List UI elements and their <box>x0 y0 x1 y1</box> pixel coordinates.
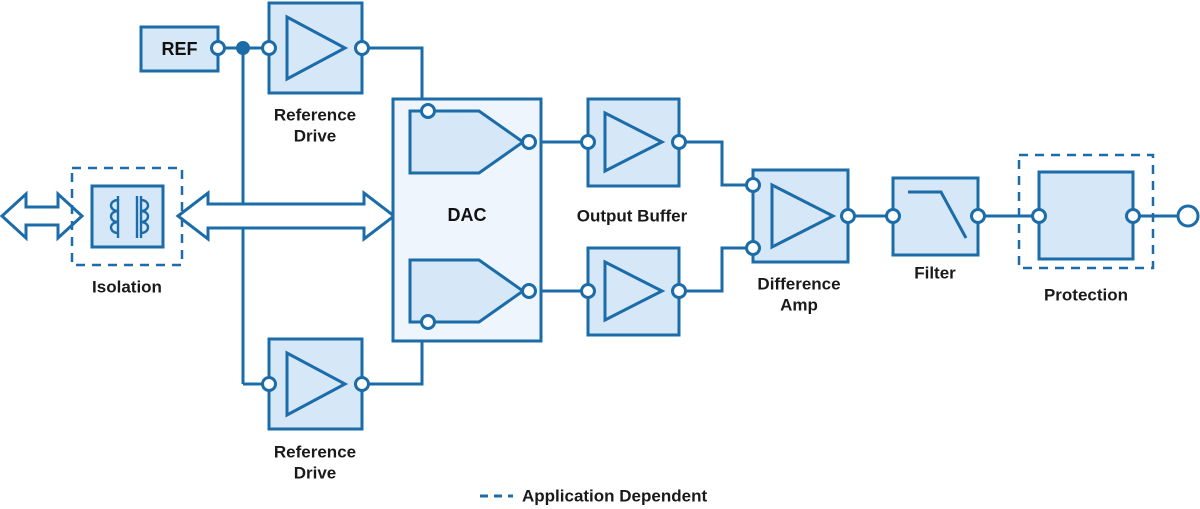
isolation-label: Isolation <box>92 277 162 296</box>
reference-drive-bottom-output-pin <box>356 378 369 391</box>
protection-label: Protection <box>1044 285 1128 304</box>
protection-input-pin <box>1033 210 1046 223</box>
output-buffer-top-input-pin <box>582 136 595 149</box>
isolation-to-dac-bus-arrow <box>178 193 394 239</box>
filter-block[interactable] <box>893 178 978 255</box>
reference-drive-top-label-line1: Reference <box>274 105 356 124</box>
difference-amp-label-line2: Amp <box>780 295 818 314</box>
diagram-canvas: .box-solid { fill:#d6e8f7; stroke:#1b6ca… <box>0 0 1200 509</box>
reference-drive-top-input-pin <box>263 42 276 55</box>
legend-label: Application Dependent <box>522 486 707 505</box>
reference-drive-bottom-input-pin <box>263 378 276 391</box>
output-buffer-label: Output Buffer <box>577 206 688 225</box>
reference-drive-bottom-label-line1: Reference <box>274 442 356 461</box>
wire-buffer-top-to-diffamp <box>679 142 753 185</box>
protection-output-pin <box>1127 210 1140 223</box>
filter-label: Filter <box>914 263 956 282</box>
output-terminal <box>1178 206 1198 226</box>
ref-output-pin <box>212 42 225 55</box>
difference-amp-output-pin <box>842 210 855 223</box>
output-buffer-bottom-input-pin <box>582 285 595 298</box>
output-buffer-top-block[interactable] <box>588 99 679 186</box>
wire-refdrive-top-to-dac <box>362 48 422 99</box>
dac-top-reference-pin <box>422 105 435 118</box>
output-buffer-bottom-output-pin <box>673 285 686 298</box>
reference-drive-top-output-pin <box>356 42 369 55</box>
difference-amp-input-minus-pin <box>747 242 760 255</box>
ref-label: REF <box>162 39 198 59</box>
filter-output-pin <box>972 210 985 223</box>
reference-drive-top-label-line2: Drive <box>294 126 337 145</box>
reference-drive-bottom-label-line2: Drive <box>294 463 337 482</box>
isolation-block[interactable] <box>92 186 163 247</box>
protection-block[interactable] <box>1039 172 1133 259</box>
external-bus-arrow <box>2 194 82 238</box>
wire-buffer-bottom-to-diffamp <box>679 248 753 291</box>
output-buffer-bottom-block[interactable] <box>588 248 679 335</box>
dac-bottom-output-pin <box>523 285 536 298</box>
difference-amp-label-line1: Difference <box>757 274 840 293</box>
dac-top-output-pin <box>523 136 536 149</box>
ref-branch-junction-dot <box>237 42 249 54</box>
block-diagram: .box-solid { fill:#d6e8f7; stroke:#1b6ca… <box>0 0 1200 509</box>
filter-input-pin <box>887 210 900 223</box>
output-buffer-top-output-pin <box>673 136 686 149</box>
dac-label: DAC <box>448 205 487 225</box>
dac-bottom-reference-pin <box>422 316 435 329</box>
difference-amp-input-plus-pin <box>747 179 760 192</box>
